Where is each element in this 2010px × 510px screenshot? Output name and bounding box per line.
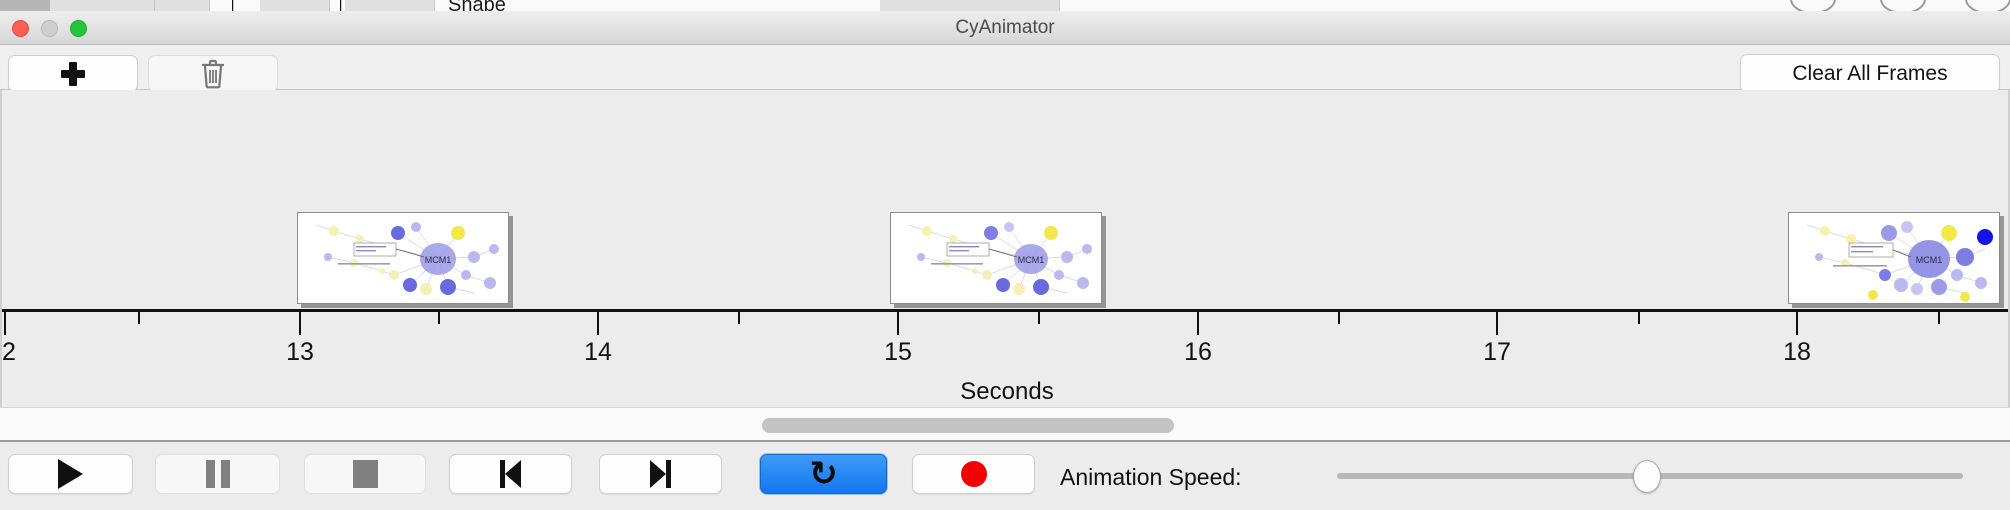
axis-tick-major: [897, 312, 899, 335]
axis-tick-minor: [438, 312, 440, 324]
playback-controls: ↻ Animation Speed:: [0, 444, 2010, 510]
frame-toolbar: Clear All Frames: [0, 45, 2010, 90]
timeline-panel[interactable]: MCM1: [0, 90, 2010, 407]
window-title: CyAnimator: [0, 11, 2010, 45]
pause-button[interactable]: [155, 454, 280, 494]
axis-tick-label: 16: [1184, 338, 1212, 367]
axis-tick-minor: [138, 312, 140, 324]
title-bar[interactable]: CyAnimator: [0, 11, 2010, 45]
svg-text:MCM1: MCM1: [1916, 255, 1943, 265]
axis-tick-major: [1197, 312, 1199, 335]
axis-tick-major: [1796, 312, 1798, 335]
frame-thumbnail[interactable]: MCM1: [1788, 212, 2000, 304]
axis-tick-minor: [1038, 312, 1040, 324]
stop-icon: [353, 460, 378, 488]
axis-tick-label: 15: [884, 338, 912, 367]
axis-tick-major: [597, 312, 599, 335]
axis-title: Seconds: [2, 378, 2010, 406]
axis-tick-label: 14: [584, 338, 612, 367]
record-button[interactable]: [912, 454, 1035, 494]
pause-icon: [206, 460, 230, 488]
axis-tick-major: [4, 312, 6, 335]
stop-button[interactable]: [304, 454, 426, 494]
skip-back-icon: [500, 460, 521, 488]
loop-button[interactable]: ↻: [760, 454, 887, 494]
horizontal-scrollbar[interactable]: [762, 418, 1174, 433]
network-thumbnail-graphic: MCM1: [891, 213, 1101, 303]
axis-tick-minor: [1938, 312, 1940, 324]
axis-tick-label: 17: [1483, 338, 1511, 367]
animation-speed-label: Animation Speed:: [1060, 464, 1242, 491]
skip-forward-icon: [650, 460, 671, 488]
network-thumbnail-graphic: MCM1: [298, 213, 508, 303]
network-thumbnail-graphic: MCM1: [1789, 213, 1999, 303]
axis-tick-minor: [1338, 312, 1340, 324]
play-icon: [58, 459, 83, 489]
animation-speed-slider[interactable]: [1337, 473, 1963, 479]
frame-thumbnail[interactable]: MCM1: [297, 212, 509, 304]
slider-thumb[interactable]: [1633, 460, 1661, 493]
add-frame-button[interactable]: [8, 55, 138, 92]
clear-all-frames-button[interactable]: Clear All Frames: [1740, 54, 2000, 93]
trash-icon: [200, 59, 226, 89]
axis-tick-label: 18: [1783, 338, 1811, 367]
frame-thumbnail[interactable]: MCM1: [890, 212, 1102, 304]
axis-tick-label: 2: [2, 338, 16, 367]
axis-tick-minor: [1638, 312, 1640, 324]
axis-tick-major: [299, 312, 301, 335]
axis-tick-label: 13: [286, 338, 314, 367]
axis-tick-major: [1496, 312, 1498, 335]
svg-text:MCM1: MCM1: [1018, 255, 1045, 265]
timeline-scrollbar-track[interactable]: [0, 407, 2010, 442]
delete-frame-button[interactable]: [148, 55, 278, 92]
svg-text:MCM1: MCM1: [425, 255, 452, 265]
cyanimator-window: Shape CyAnimator Clear All Frames: [0, 0, 2010, 510]
plus-icon: [60, 61, 86, 87]
next-frame-button[interactable]: [599, 454, 722, 494]
previous-frame-button[interactable]: [449, 454, 572, 494]
record-icon: [961, 461, 987, 487]
play-button[interactable]: [8, 454, 133, 494]
loop-icon: ↻: [809, 457, 838, 491]
timeline-axis: [2, 309, 2010, 312]
axis-tick-minor: [738, 312, 740, 324]
